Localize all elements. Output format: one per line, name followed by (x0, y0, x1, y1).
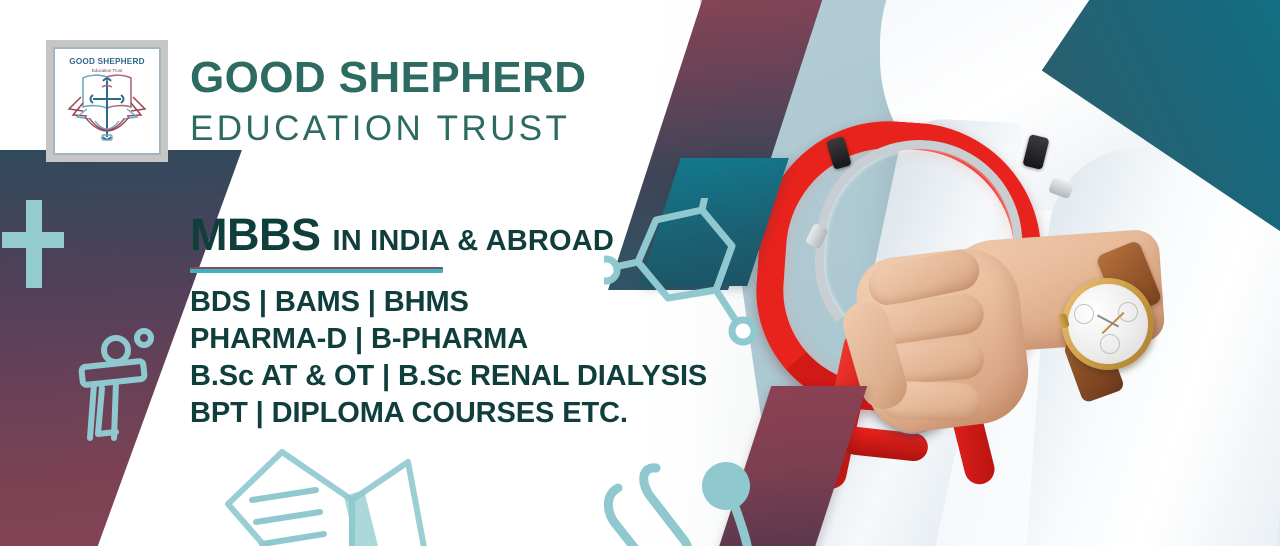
course-line: PHARMA-D | B-PHARMA (190, 321, 750, 358)
watch-subdial (1074, 304, 1094, 324)
course-list: BDS | BAMS | BHMS PHARMA-D | B-PHARMA B.… (190, 284, 750, 432)
logo-frame: GOOD SHEPHERD Education Trust (46, 40, 168, 162)
headline-row: MBBS IN INDIA & ABROAD (190, 212, 750, 257)
headline-block: MBBS IN INDIA & ABROAD BDS | BAMS | BHMS… (190, 212, 750, 432)
brand-name-secondary: EDUCATION TRUST (190, 111, 586, 146)
logo-crest-subtitle: Education Trust (92, 68, 123, 73)
brand-name-primary: GOOD SHEPHERD (190, 56, 586, 100)
course-line: BDS | BAMS | BHMS (190, 284, 750, 321)
headline-main: MBBS (190, 212, 321, 257)
course-line: B.Sc AT & OT | B.Sc RENAL DIALYSIS (190, 358, 750, 395)
logo-crest-title: GOOD SHEPHERD (69, 57, 144, 66)
watch-subdial (1100, 334, 1120, 354)
headline-subtitle: IN INDIA & ABROAD (333, 227, 615, 256)
cross-crest-icon: GOOD SHEPHERD Education Trust (61, 51, 153, 151)
brand-lockup: GOOD SHEPHERD Education Trust (46, 40, 586, 162)
logo-crest: GOOD SHEPHERD Education Trust (53, 47, 161, 155)
course-line: BPT | DIPLOMA COURSES ETC. (190, 395, 750, 432)
headline-divider (190, 267, 443, 273)
brand-text: GOOD SHEPHERD EDUCATION TRUST (190, 56, 586, 146)
promotional-banner: GOOD SHEPHERD Education Trust (0, 0, 1280, 546)
